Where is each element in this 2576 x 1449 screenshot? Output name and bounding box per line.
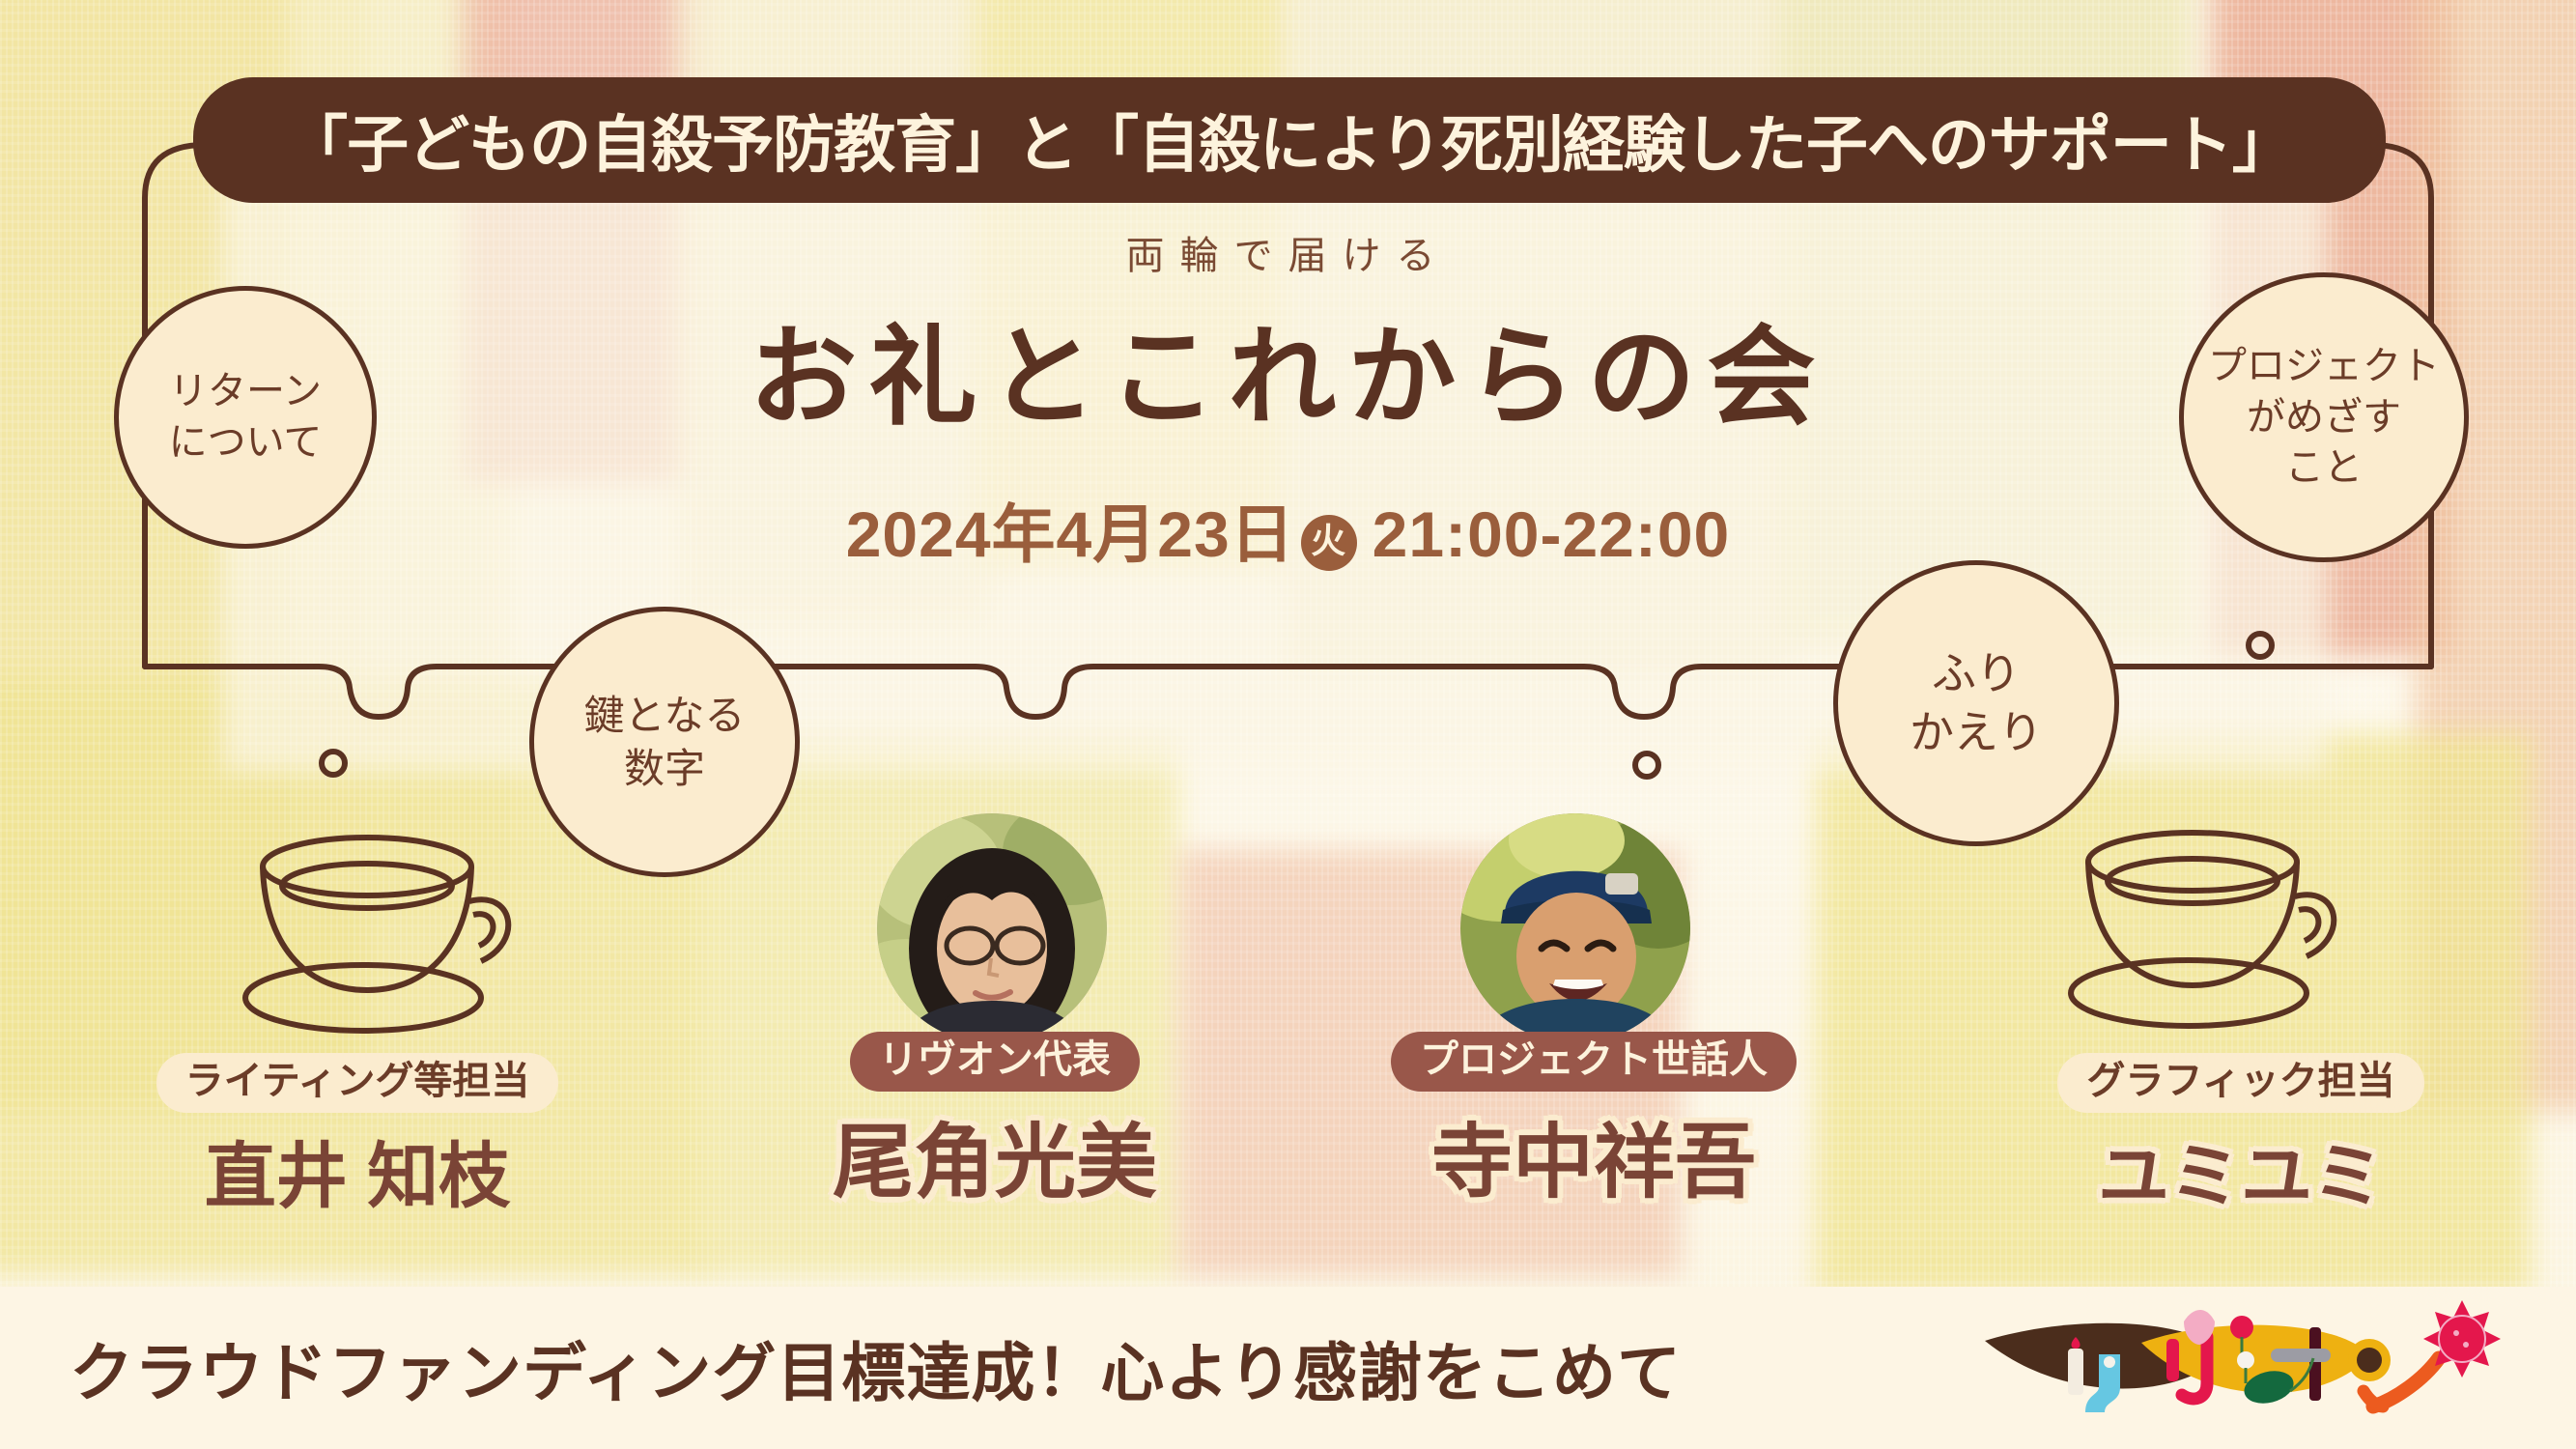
bubble-return: リターン について — [114, 286, 377, 549]
bubble-return-line-1: リターン — [169, 366, 322, 417]
speaker-naoi-name: 直井 知枝 — [58, 1119, 657, 1222]
bubble-numbers-line-1: 鍵となる — [584, 689, 746, 742]
avatar-ozumi — [877, 813, 1107, 1043]
event-poster: 「子どもの自殺予防教育」と「自殺により死別経験した子へのサポート」 両輪で届ける… — [0, 0, 2576, 1449]
bubble-review-line-2: かえり — [1910, 703, 2043, 762]
avatar-ozumi-image — [877, 813, 1107, 1043]
coffee-cup-right-icon — [2057, 821, 2376, 1043]
avatar-teranaka-image — [1460, 813, 1690, 1043]
speaker-teranaka-role: プロジェクト世話人 — [1391, 1032, 1797, 1092]
speaker-teranaka: プロジェクト世話人 寺中祥吾 — [1304, 1032, 1883, 1214]
liveon-logo — [1979, 1298, 2559, 1434]
bubble-review-line-1: ふり — [1932, 644, 2021, 703]
bubble-numbers: 鍵となる 数字 — [529, 607, 800, 877]
bubble-goal-line-3: こと — [2285, 442, 2363, 494]
weekday-badge: 火 — [1301, 515, 1357, 571]
title-text: 「子どもの自殺予防教育」と「自殺により死別経験した子へのサポート」 — [286, 96, 2293, 185]
bubble-review: ふり かえり — [1833, 560, 2119, 846]
bubble-goal-line-1: プロジェクト — [2208, 341, 2440, 392]
footer-message: クラウドファンディング目標達成！心より感謝をこめて — [70, 1321, 1682, 1414]
event-time: 21:00-22:00 — [1373, 498, 1731, 570]
speaker-teranaka-name: 寺中祥吾 — [1304, 1097, 1883, 1214]
speaker-ozumi: リヴオン代表 尾角光美 — [734, 1032, 1256, 1214]
speaker-yumiyumi: グラフィック担当 ユミユミ — [1951, 1053, 2531, 1222]
title-banner: 「子どもの自殺予防教育」と「自殺により死別経験した子へのサポート」 — [193, 77, 2386, 203]
speaker-naoi-role: ライティング等担当 — [156, 1053, 559, 1113]
coffee-cup-left-icon — [232, 826, 551, 1048]
speaker-naoi: ライティング等担当 直井 知枝 — [58, 1053, 657, 1222]
bubble-goal: プロジェクト がめざす こと — [2179, 272, 2469, 562]
event-date: 2024年4月23日 — [846, 498, 1295, 570]
eyebrow-text: 両輪で届ける — [0, 224, 2576, 280]
speaker-ozumi-role: リヴオン代表 — [850, 1032, 1140, 1092]
event-datetime: 2024年4月23日火21:00-22:00 — [0, 483, 2576, 576]
background-grain-texture — [0, 0, 2576, 1449]
bubble-return-line-2: について — [169, 417, 323, 469]
bubble-numbers-line-2: 数字 — [624, 742, 705, 795]
footer-band: クラウドファンディング目標達成！心より感謝をこめて — [0, 1287, 2576, 1449]
bubble-goal-line-2: がめざす — [2247, 392, 2401, 443]
speaker-ozumi-name: 尾角光美 — [734, 1097, 1256, 1214]
avatar-teranaka — [1460, 813, 1690, 1043]
speaker-yumiyumi-name: ユミユミ — [1951, 1119, 2531, 1222]
speaker-yumiyumi-role: グラフィック担当 — [2057, 1053, 2423, 1113]
